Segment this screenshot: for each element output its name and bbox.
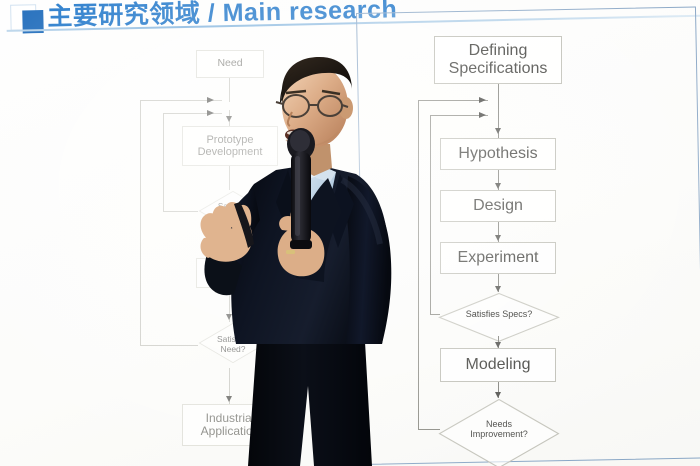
arrow-icon xyxy=(479,112,486,118)
microphone-icon xyxy=(287,128,315,249)
arrow-icon xyxy=(495,286,501,292)
feedback-connector xyxy=(163,211,198,212)
feedback-connector xyxy=(140,100,141,346)
feedback-connector xyxy=(140,345,198,346)
node-modeling: Modeling xyxy=(440,348,556,382)
node-defining-specifications: Defining Specifications xyxy=(434,36,562,84)
presenter-figure xyxy=(196,52,426,466)
node-experiment: Experiment xyxy=(440,242,556,274)
feedback-connector xyxy=(418,100,488,101)
feedback-connector xyxy=(430,115,431,315)
node-design: Design xyxy=(440,190,556,222)
suit-right-arm xyxy=(346,176,391,344)
photo-scene: 主要研究领域 / Main research Need Prototype De… xyxy=(0,0,700,466)
arrow-icon xyxy=(495,392,501,398)
arrow-icon xyxy=(479,97,486,103)
arrow-icon xyxy=(495,128,501,134)
node-label: Needs Improvement? xyxy=(470,419,528,440)
presenter xyxy=(196,52,426,466)
feedback-connector xyxy=(430,314,440,315)
arrow-icon xyxy=(495,235,501,241)
node-hypothesis: Hypothesis xyxy=(440,138,556,170)
feedback-connector xyxy=(163,113,164,212)
arrow-icon xyxy=(495,342,501,348)
arrow-icon xyxy=(495,183,501,189)
ring xyxy=(286,250,295,254)
trousers xyxy=(248,324,372,466)
node-satisfies-specs: Satisfies Specs? xyxy=(438,292,560,336)
node-needs-improvement: Needs Improvement? xyxy=(438,398,560,460)
node-label: Satisfies Specs? xyxy=(466,309,533,319)
